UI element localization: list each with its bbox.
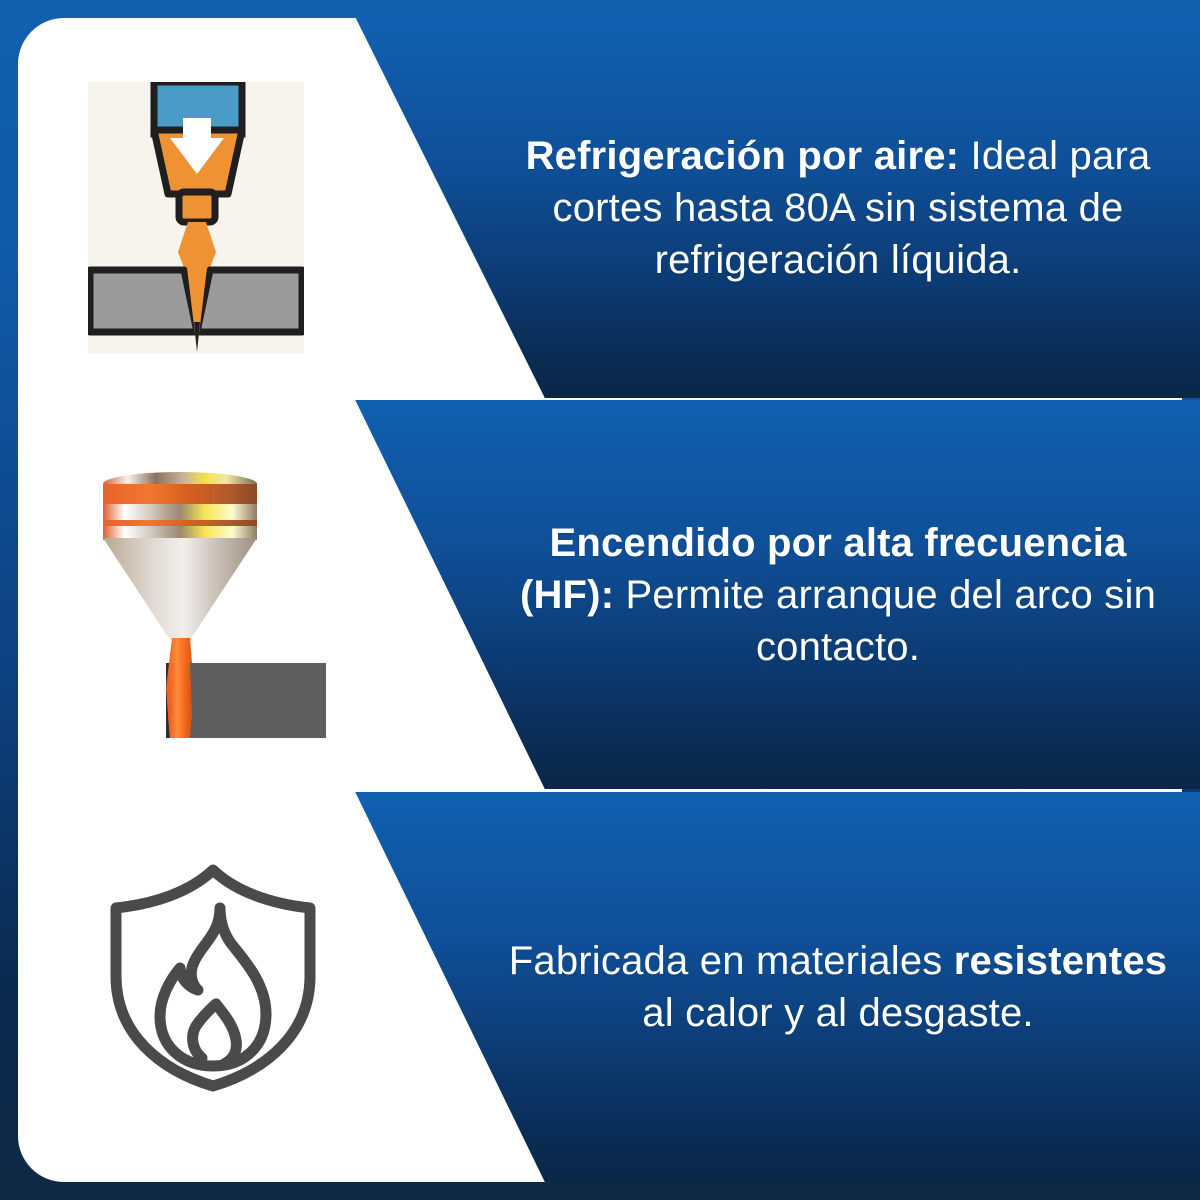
feature-2-text: Encendido por alta frecuencia (HF): Perm… <box>508 517 1168 673</box>
plasma-torch-cutting-icon <box>88 82 304 354</box>
torch-nozzle-arc-svg <box>80 448 350 738</box>
plasma-torch-cutting-svg <box>88 82 304 354</box>
torch-nozzle-arc-icon <box>80 448 350 738</box>
shield-flame-heat-resistant-icon <box>98 858 328 1094</box>
infographic-canvas: Refrigeración por aire: Ideal para corte… <box>0 0 1200 1200</box>
feature-2-body: Permite arranque del arco sin contacto. <box>614 573 1156 669</box>
feature-3-prefix: Fabricada en materiales <box>509 939 954 983</box>
feature-3-lead-in: resistentes <box>954 939 1167 983</box>
feature-3-text: Fabricada en materiales resistentes al c… <box>508 935 1168 1039</box>
feature-1-text: Refrigeración por aire: Ideal para corte… <box>508 130 1168 286</box>
feature-3-body: al calor y al desgaste. <box>642 991 1033 1035</box>
feature-1-lead-in: Refrigeración por aire: <box>526 134 960 178</box>
shield-flame-svg <box>98 858 328 1094</box>
